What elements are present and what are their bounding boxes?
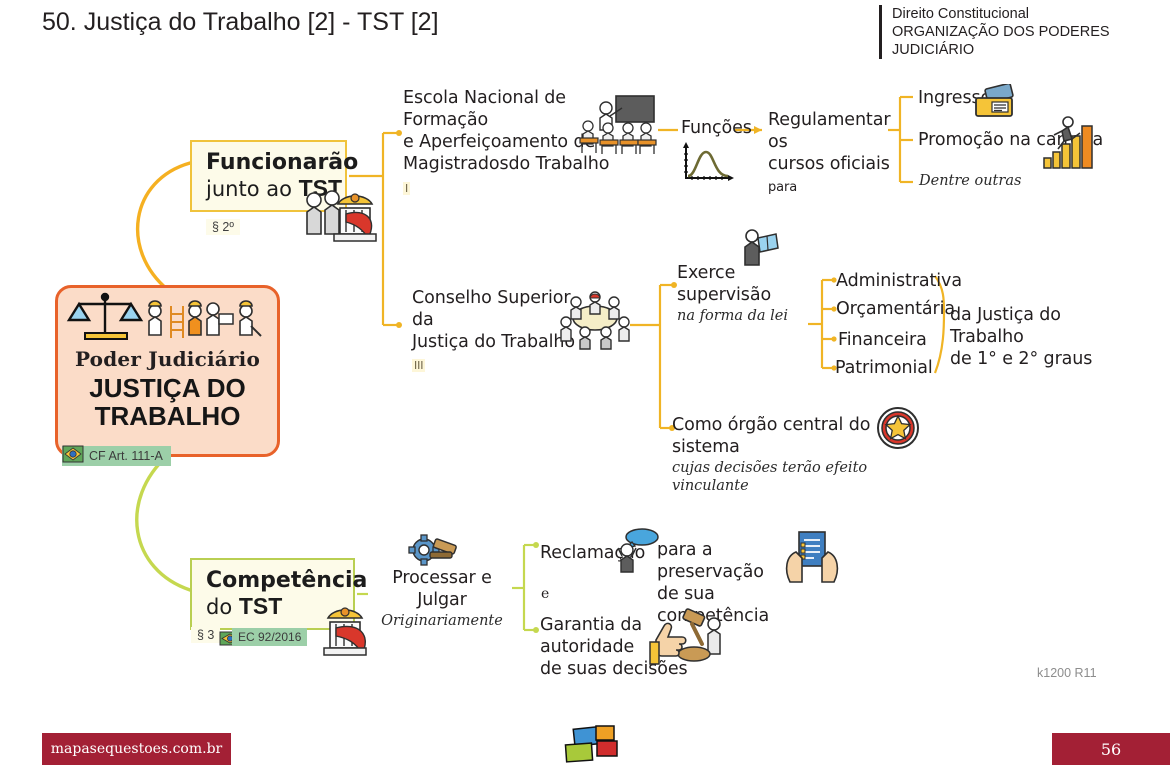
node-graus-line1: da Justiça do Trabalho [950,305,1110,349]
node-financeira[interactable]: Financeira [838,330,927,352]
classroom-teaching-icon [574,92,658,163]
footer-site-label: mapasequestoes.com.br [51,741,222,757]
central-supertitle: Poder Judiciário [75,347,260,371]
node-funcoes-label: Funções [681,118,752,138]
central-title-line2: TRABALHO [89,402,246,430]
branch-competencia-line2-strong: TST [239,593,282,619]
node-conselho-line2: Justiça do Trabalho [412,332,577,354]
node-escola-roman: I [403,182,410,196]
branch-funcionarao-line2-pre: junto ao [206,177,299,201]
page-title: 50. Justiça do Trabalho [2] - TST [2] [42,8,439,37]
doc-code: k1200 R11 [1037,666,1097,680]
node-regulamentar[interactable]: Regulamentar os cursos oficiais para [768,110,893,198]
central-title-line1: JUSTIÇA DO [89,374,246,402]
node-orcamentaria[interactable]: Orçamentária [836,299,955,321]
node-processar-subtext: Originariamente [372,612,512,630]
branch-funcionarao-line1: Funcionarão [206,150,331,175]
node-preservacao-line1: para a preservação [657,540,792,584]
node-dentre-outras[interactable]: Dentre outras [919,172,1021,190]
colored-squares-logo [560,722,622,771]
node-graus-line2: de 1° e 2° graus [950,349,1110,371]
node-graus-note: da Justiça do Trabalho de 1° e 2° graus [950,305,1110,371]
footer-page-bar: 56 [1052,733,1170,765]
node-administrativa[interactable]: Administrativa [836,271,962,293]
branch-competencia-line1: Competência [206,568,339,593]
bell-curve-chart-icon [680,140,736,191]
header-topic: ORGANIZAÇÃO DOS PODERES [892,23,1159,41]
cf-article-label: CF Art. 111-A [84,449,163,463]
judge-statue-icon-funcionarao [296,178,380,251]
node-regulamentar-line2: cursos oficiais [768,154,890,174]
cf-article-badge[interactable]: CF Art. 111-A [62,446,171,466]
node-conselho-line1: Conselho Superior da [412,288,577,332]
hands-holding-document-icon [782,530,840,591]
person-complaint-icon [612,528,660,579]
career-growth-chart-icon [1042,112,1096,177]
thumbs-up-gavel-icon [648,608,730,675]
branch-competencia-line2-pre: do [206,595,239,619]
header-subject: Direito Constitucional [892,5,1159,23]
node-regulamentar-inline: para [768,180,797,195]
paragraph-badge-3: § 3 [191,627,220,643]
header-branch: JUDICIÁRIO [892,41,1159,59]
scales-and-workers-icon [65,292,270,349]
brazil-flag-icon [62,445,84,468]
star-seal-icon [876,406,920,455]
footer-page-number: 56 [1101,740,1121,759]
node-conjunction: e [541,586,549,604]
header-subject-block: Direito Constitucional ORGANIZAÇÃO DOS P… [879,5,1159,59]
node-supervisao-subtext: na forma da lei [677,307,812,325]
paragraph-badge-2: § 2º [206,219,240,235]
amendment-badge: EC 92/2016 [232,628,307,646]
gear-and-gavel-icon [404,532,466,579]
id-card-icon [972,84,1022,129]
person-reading-book-icon [736,226,780,273]
node-patrimonial[interactable]: Patrimonial [835,358,933,380]
node-conselho[interactable]: Conselho Superior da Justiça do Trabalho… [412,288,577,376]
node-conselho-roman: III [412,359,425,373]
footer-site-bar[interactable]: mapasequestoes.com.br [42,733,231,765]
node-funcoes[interactable]: Funções [681,118,752,140]
council-meeting-icon [556,288,634,355]
central-node[interactable]: Poder Judiciário JUSTIÇA DO TRABALHO [55,285,280,457]
node-regulamentar-line1: Regulamentar os [768,110,893,154]
node-orgao-central-subtext: cujas decisões terão efeito vinculante [672,459,912,495]
